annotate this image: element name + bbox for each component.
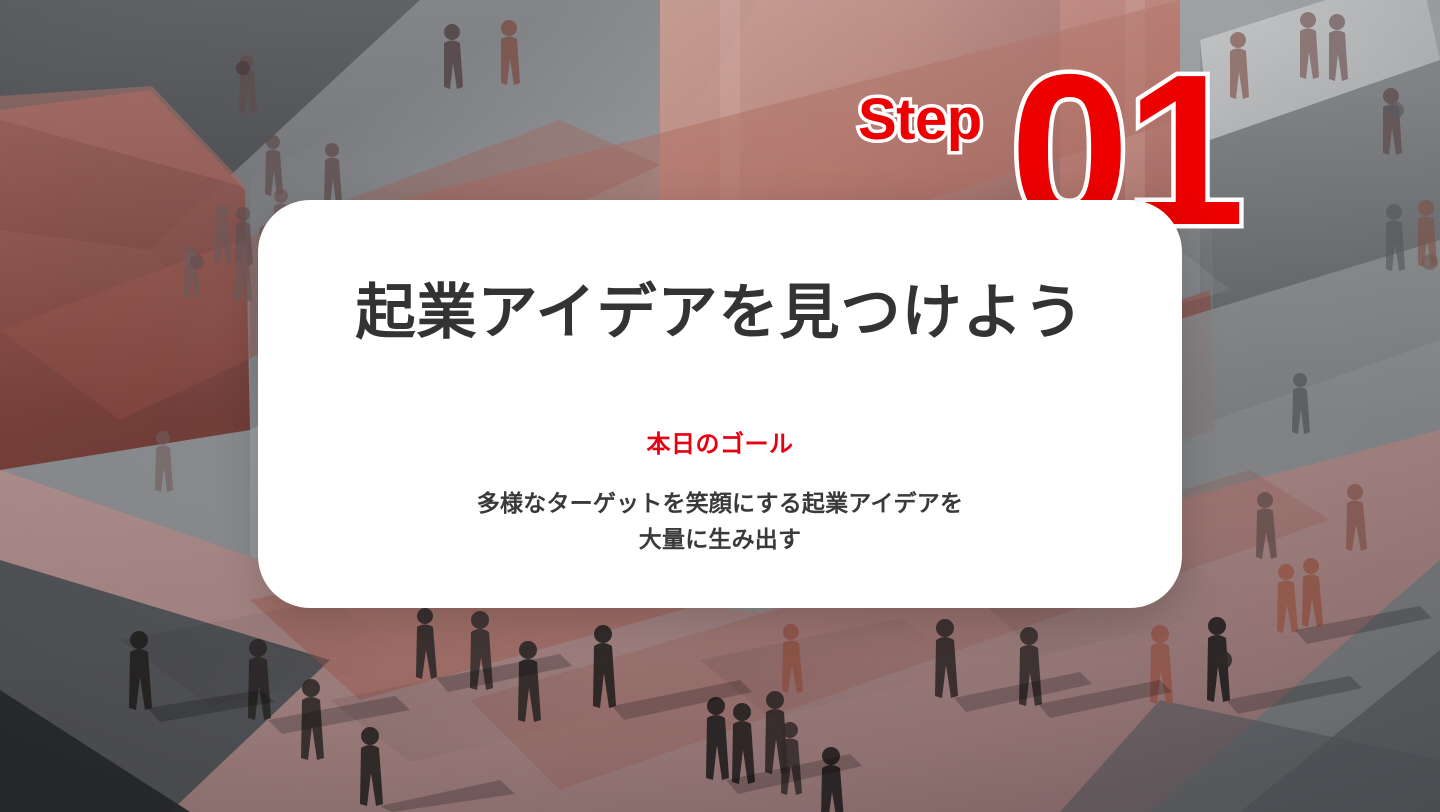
goal-description: 多様なターゲットを笑顔にする起業アイデアを 大量に生み出す xyxy=(477,486,963,557)
step-label: Step xyxy=(858,91,982,149)
goal-description-line-1: 多様なターゲットを笑顔にする起業アイデアを xyxy=(477,486,963,522)
goal-description-line-2: 大量に生み出す xyxy=(477,522,963,558)
goal-heading: 本日のゴール xyxy=(647,431,794,460)
page-title: 起業アイデアを見つけよう xyxy=(356,278,1085,347)
slide-canvas: Step 01 起業アイデアを見つけよう 本日のゴール 多様なターゲットを笑顔に… xyxy=(0,0,1440,812)
content-card: 起業アイデアを見つけよう 本日のゴール 多様なターゲットを笑顔にする起業アイデア… xyxy=(258,200,1182,608)
